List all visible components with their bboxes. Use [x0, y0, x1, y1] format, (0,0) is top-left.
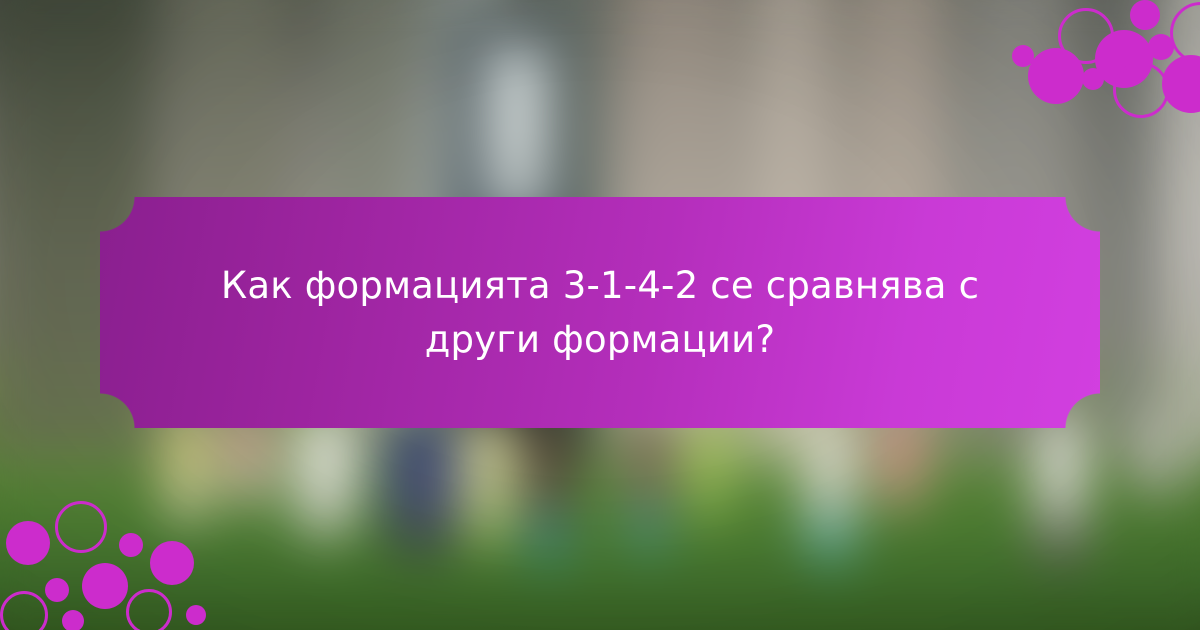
- title-banner: Как формацията 3-1-4-2 се сравнява с дру…: [100, 197, 1100, 428]
- page-title: Как формацията 3-1-4-2 се сравнява с дру…: [155, 259, 1045, 366]
- social-share-card: Как формацията 3-1-4-2 се сравнява с дру…: [0, 0, 1200, 630]
